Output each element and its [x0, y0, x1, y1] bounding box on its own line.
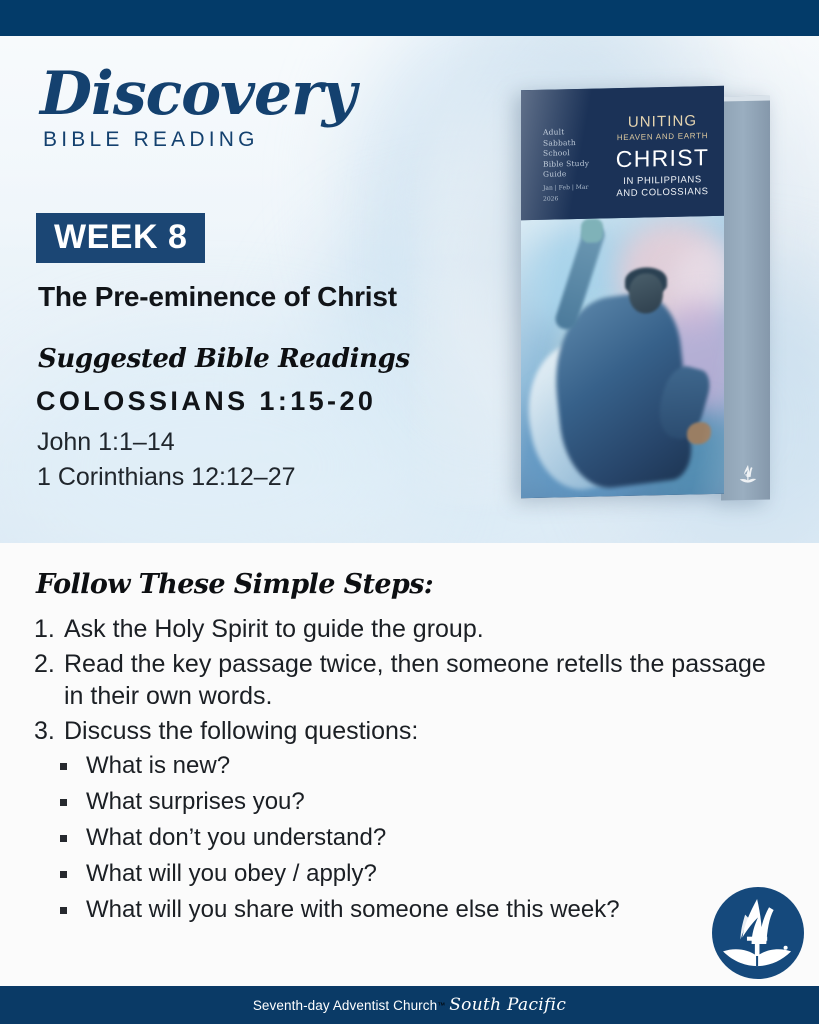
- footer-bar: Seventh-day Adventist Church™South Pacif…: [0, 986, 819, 1024]
- footer-region: South Pacific: [449, 995, 566, 1015]
- discussion-questions-list: What is new? What surprises you? What do…: [60, 748, 760, 928]
- book-title-uniting: UNITING: [605, 112, 720, 132]
- question-text-3: What don’t you understand?: [86, 820, 760, 856]
- book-title-heaven-earth: HEAVEN AND EARTH: [605, 131, 720, 143]
- step-item-3: 3. Discuss the following questions:: [34, 715, 774, 747]
- question-text-2: What surprises you?: [86, 784, 760, 820]
- question-text-5: What will you share with someone else th…: [86, 892, 760, 928]
- step-text-3: Discuss the following questions:: [64, 715, 774, 747]
- suggested-readings-label: Suggested Bible Readings: [38, 344, 410, 374]
- book-imprint-block: Adult Sabbath School Bible Study Guide J…: [521, 88, 605, 220]
- reading-secondary-2: 1 Corinthians 12:12–27: [37, 463, 296, 492]
- study-guide-book: Adult Sabbath School Bible Study Guide J…: [521, 88, 770, 500]
- book-cover-artwork: [521, 216, 724, 499]
- figure-raised-hand: [581, 218, 603, 242]
- list-item: What will you obey / apply?: [60, 856, 760, 892]
- square-bullet-icon: [60, 748, 86, 770]
- book-imprint-line3: Bible Study Guide: [543, 158, 605, 180]
- step-number-3: 3.: [34, 715, 64, 747]
- page-title: The Pre-eminence of Christ: [38, 281, 397, 313]
- footer-trademark: ™: [437, 1001, 445, 1010]
- list-item: What surprises you?: [60, 784, 760, 820]
- step-item-2: 2. Read the key passage twice, then some…: [34, 648, 774, 712]
- sda-church-logo-icon: [712, 887, 804, 979]
- book-imprint-line2: Sabbath School: [543, 137, 605, 159]
- book-title-colossians: AND COLOSSIANS: [605, 186, 720, 200]
- step-text-1: Ask the Holy Spirit to guide the group.: [64, 613, 774, 645]
- week-badge: WEEK 8: [36, 213, 205, 263]
- list-item: What is new?: [60, 748, 760, 784]
- footer-church-name: Seventh-day Adventist Church: [253, 998, 437, 1013]
- figure-head: [629, 273, 663, 314]
- square-bullet-icon: [60, 892, 86, 914]
- step-number-1: 1.: [34, 613, 64, 645]
- logo-wordmark: Discovery: [40, 62, 356, 126]
- step-text-2: Read the key passage twice, then someone…: [64, 648, 774, 712]
- top-navy-bar: [0, 0, 819, 36]
- reading-secondary-1: John 1:1–14: [37, 428, 175, 457]
- sda-logo-icon-spine: [736, 462, 760, 487]
- book-spine: [721, 95, 770, 500]
- book-imprint-date: Jan | Feb | Mar 2026: [543, 181, 605, 204]
- question-text-4: What will you obey / apply?: [86, 856, 760, 892]
- steps-section: Follow These Simple Steps: 1. Ask the Ho…: [0, 543, 819, 986]
- book-title-block: UNITING HEAVEN AND EARTH CHRIST IN PHILI…: [605, 86, 724, 219]
- key-reading: COLOSSIANS 1:15-20: [36, 386, 376, 417]
- step-item-1: 1. Ask the Holy Spirit to guide the grou…: [34, 613, 774, 645]
- steps-heading: Follow These Simple Steps:: [36, 569, 433, 600]
- square-bullet-icon: [60, 784, 86, 806]
- question-text-1: What is new?: [86, 748, 760, 784]
- logo-subtitle: BIBLE READING: [43, 128, 356, 152]
- book-front-cover: Adult Sabbath School Bible Study Guide J…: [521, 86, 724, 499]
- square-bullet-icon: [60, 820, 86, 842]
- step-number-2: 2.: [34, 648, 64, 712]
- square-bullet-icon: [60, 856, 86, 878]
- book-cover-header: Adult Sabbath School Bible Study Guide J…: [521, 86, 724, 221]
- book-title-christ: CHRIST: [605, 144, 720, 174]
- list-item: What don’t you understand?: [60, 820, 760, 856]
- discovery-logo: Discovery BIBLE READING: [40, 62, 356, 152]
- list-item: What will you share with someone else th…: [60, 892, 760, 928]
